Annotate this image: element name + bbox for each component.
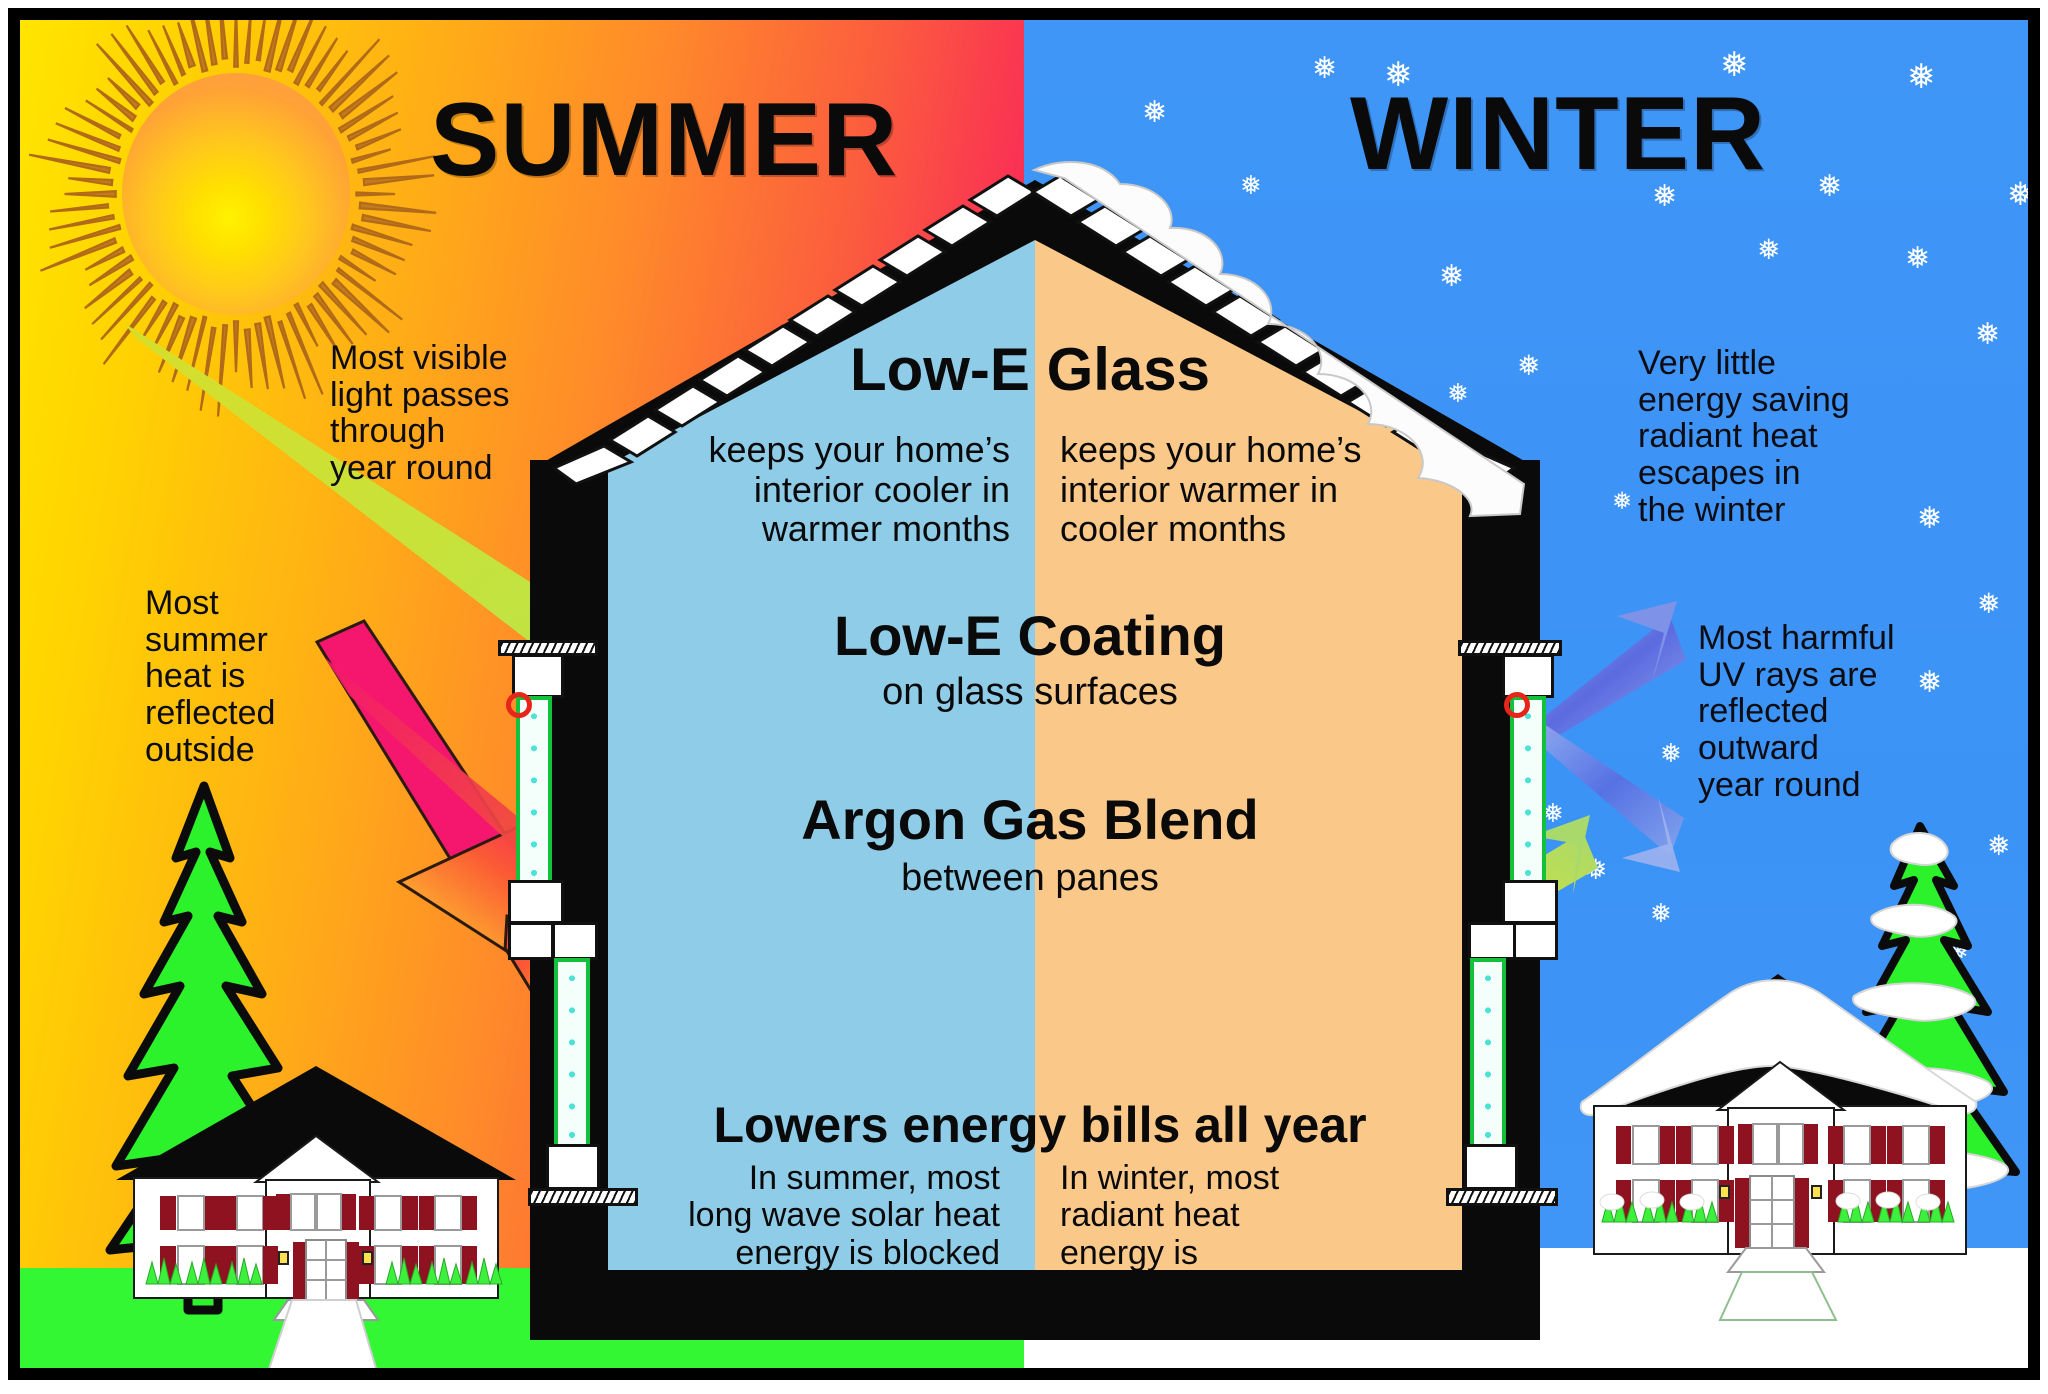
coating-marker-icon — [1504, 692, 1530, 718]
argon-gas-heading: Argon Gas Blend — [740, 792, 1320, 848]
glass-pane-upper — [516, 696, 552, 886]
window-cross-section-summer — [508, 640, 592, 1280]
roof-detail — [508, 154, 1578, 494]
energy-bills-left-sub: In summer, mostlong wave solar heatenerg… — [650, 1160, 1000, 1272]
window-bottom-sill — [528, 1188, 638, 1206]
argon-gas-sub: between panes — [740, 858, 1320, 900]
glass-pane-lower — [1470, 958, 1506, 1148]
window-frame-mid-upper — [508, 880, 564, 924]
window-frame-mid-upper — [1502, 880, 1558, 924]
low-e-glass-left-sub: keeps your home’sinterior cooler inwarme… — [680, 430, 1010, 549]
window-frame-mid-a — [508, 922, 554, 960]
house-winter-icon — [1580, 950, 1980, 1320]
energy-bills-right-sub: In winter, mostradiant heatenergy isrefl… — [1060, 1160, 1390, 1310]
poster-stage: ❅❅❅❅❅❅❅❅❅❅❅❅❅❅❅❅❅❅❅❅❅❅❅❅❅❅❅ — [20, 20, 2028, 1368]
window-frame-top — [1502, 654, 1554, 698]
window-bottom-sill — [1446, 1188, 1558, 1206]
title-winter: WINTER — [1350, 82, 1766, 186]
glass-pane-lower — [554, 958, 590, 1148]
window-frame-mid-b — [552, 922, 598, 960]
infographic-poster: ❅❅❅❅❅❅❅❅❅❅❅❅❅❅❅❅❅❅❅❅❅❅❅❅❅❅❅ — [0, 0, 2048, 1394]
glass-pane-upper — [1510, 696, 1546, 886]
coating-marker-icon — [506, 692, 532, 718]
low-e-glass-heading: Low-E Glass — [720, 340, 1340, 400]
window-frame-bottom — [546, 1144, 600, 1190]
callout-energy-escape: Very littleenergy savingradiant heatesca… — [1638, 345, 1888, 529]
callout-summer-heat: Mostsummerheat isreflectedoutside — [145, 585, 325, 769]
energy-bills-heading: Lowers energy bills all year — [660, 1100, 1420, 1150]
window-frame-mid-a — [1512, 922, 1558, 960]
callout-visible-light: Most visiblelight passesthroughyear roun… — [330, 340, 540, 487]
house-summer-icon — [116, 970, 516, 1320]
low-e-glass-right-sub: keeps your home’sinterior warmer incoole… — [1060, 430, 1400, 549]
window-frame-bottom — [1464, 1144, 1518, 1190]
low-e-coating-heading: Low-E Coating — [760, 608, 1300, 664]
summer-walkway — [260, 1300, 400, 1368]
callout-uv-reflected: Most harmfulUV rays arereflectedoutwardy… — [1698, 620, 1938, 804]
title-summer: SUMMER — [430, 88, 898, 192]
poster-frame: ❅❅❅❅❅❅❅❅❅❅❅❅❅❅❅❅❅❅❅❅❅❅❅❅❅❅❅ — [8, 8, 2040, 1380]
window-frame-mid-b — [1468, 922, 1516, 960]
low-e-coating-sub: on glass surfaces — [760, 672, 1300, 714]
window-cross-section-winter — [1474, 640, 1558, 1280]
